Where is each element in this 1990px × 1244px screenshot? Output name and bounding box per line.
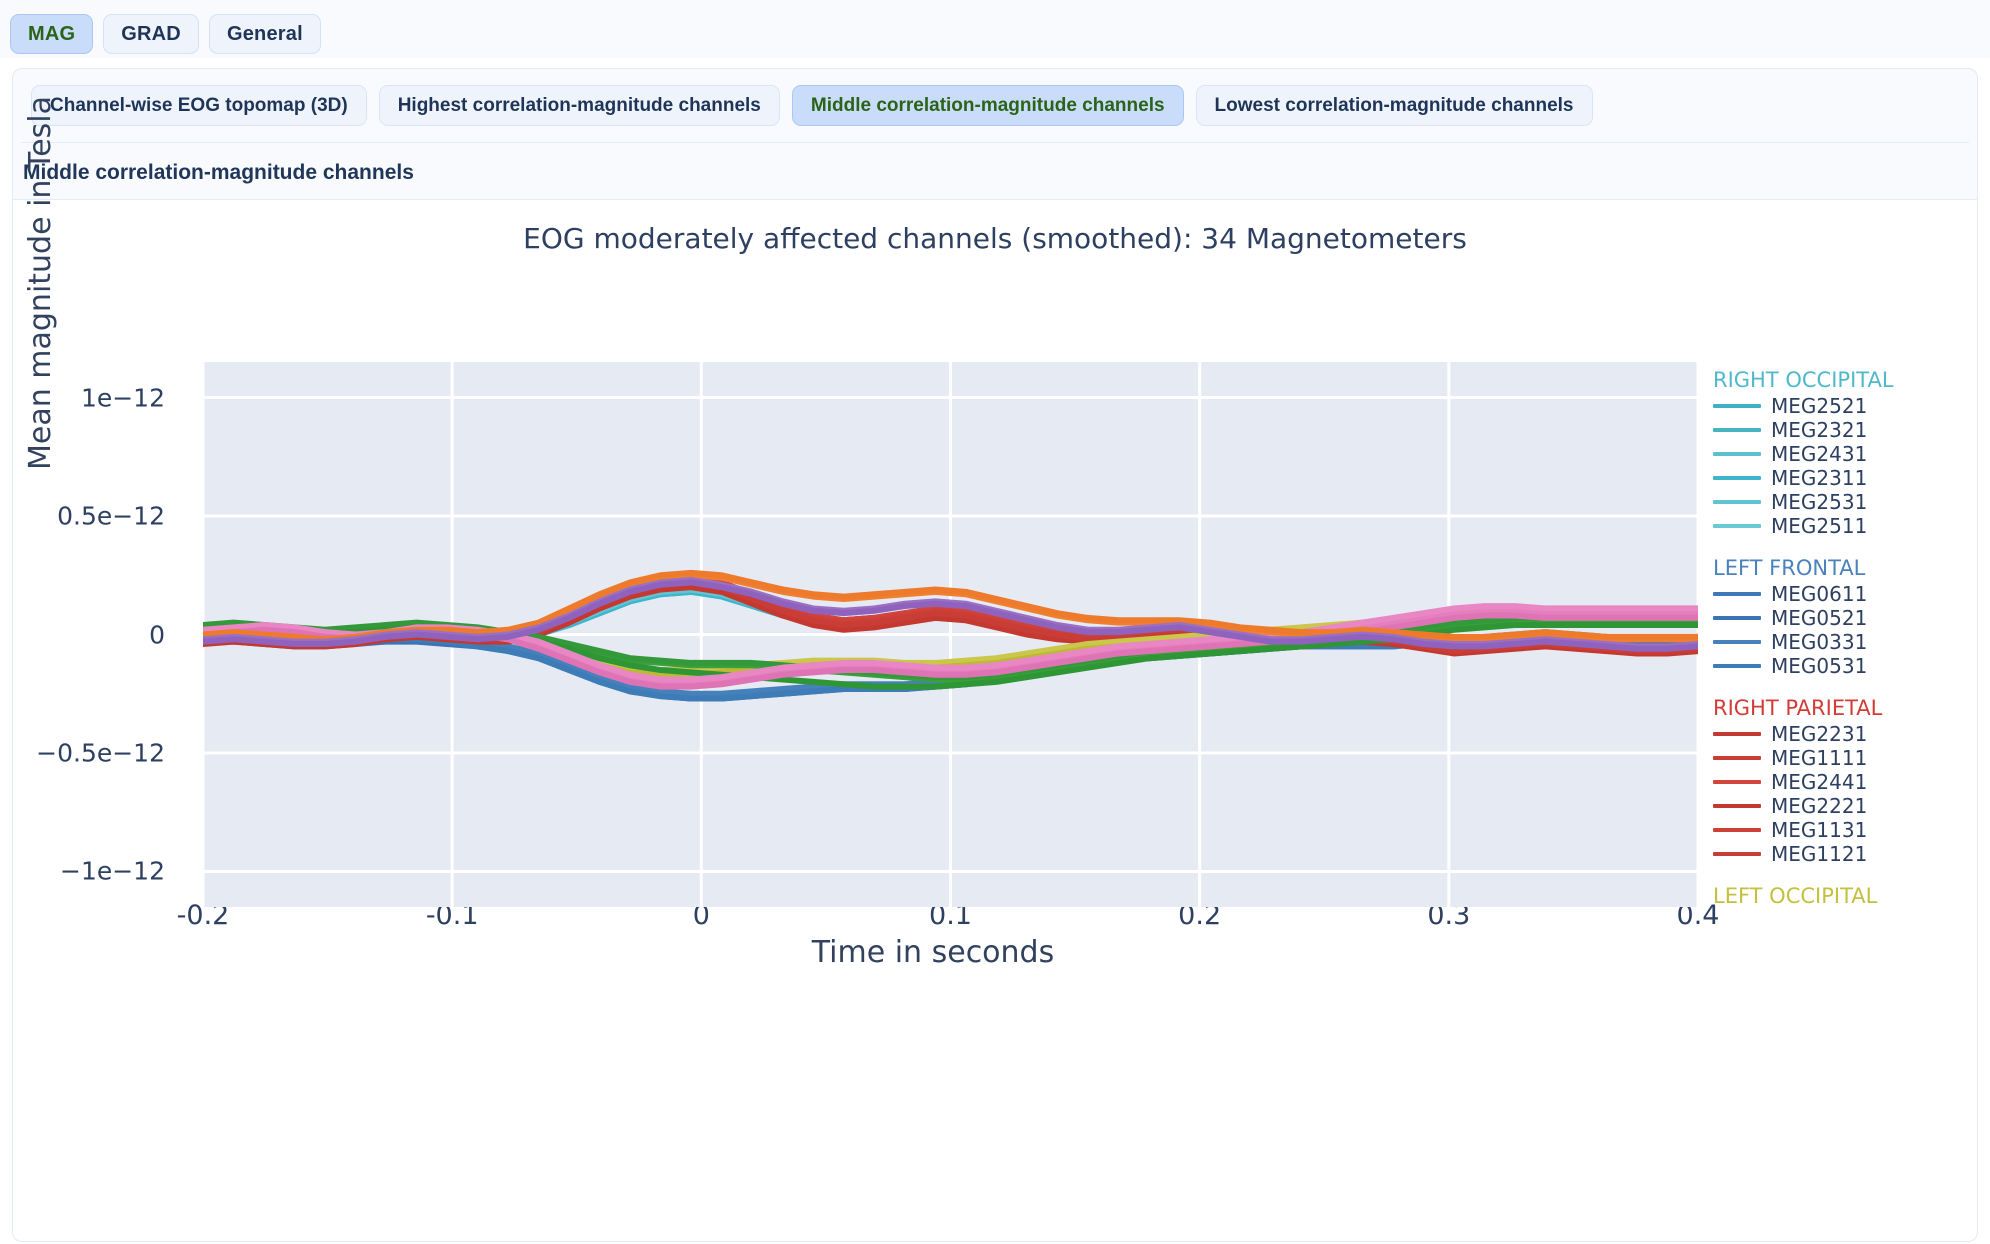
legend-swatch-icon (1713, 616, 1761, 620)
y-tick-label: 1e−12 (81, 383, 165, 412)
legend-channel-label: MEG2311 (1771, 466, 1867, 490)
legend-swatch-icon (1713, 664, 1761, 668)
y-tick-label: −0.5e−12 (36, 738, 165, 767)
legend-channel-label: MEG0521 (1771, 606, 1867, 630)
y-tick-label: 0.5e−12 (57, 502, 165, 531)
legend-item[interactable]: MEG2321 (1713, 418, 1978, 442)
legend-swatch-icon (1713, 852, 1761, 856)
legend-channel-label: MEG2511 (1771, 514, 1867, 538)
legend-swatch-icon (1713, 732, 1761, 736)
x-axis-label: Time in seconds (183, 935, 1683, 970)
legend-swatch-icon (1713, 524, 1761, 528)
legend-item[interactable]: MEG2511 (1713, 514, 1978, 538)
legend-swatch-icon (1713, 500, 1761, 504)
legend-swatch-icon (1713, 428, 1761, 432)
legend-channel-label: MEG2521 (1771, 394, 1867, 418)
legend-channel-label: MEG2441 (1771, 770, 1867, 794)
legend-swatch-icon (1713, 640, 1761, 644)
legend-channel-label: MEG1111 (1771, 746, 1867, 770)
legend-swatch-icon (1713, 476, 1761, 480)
legend-item[interactable]: MEG0531 (1713, 654, 1978, 678)
section-title: Middle correlation-magnitude channels (13, 143, 1977, 199)
legend-channel-label: MEG2321 (1771, 418, 1867, 442)
legend-item[interactable]: MEG1121 (1713, 842, 1978, 866)
legend-channel-label: MEG0611 (1771, 582, 1867, 606)
tab-highest-correlation-magnitude-channels[interactable]: Highest correlation-magnitude channels (379, 85, 780, 126)
legend-item[interactable]: MEG2441 (1713, 770, 1978, 794)
legend-item[interactable]: MEG0521 (1713, 606, 1978, 630)
tab-row: Channel-wise EOG topomap (3D) Highest co… (13, 69, 1977, 142)
legend-swatch-icon (1713, 756, 1761, 760)
legend-group-title: RIGHT OCCIPITAL (1713, 368, 1978, 392)
legend-swatch-icon (1713, 404, 1761, 408)
legend-group-title: LEFT OCCIPITAL (1713, 884, 1978, 908)
legend-item[interactable]: MEG2431 (1713, 442, 1978, 466)
tab-middle-correlation-magnitude-channels[interactable]: Middle correlation-magnitude channels (792, 85, 1184, 126)
chart-legend: RIGHT OCCIPITALMEG2521MEG2321MEG2431MEG2… (1713, 368, 1978, 926)
y-tick-label: −1e−12 (60, 857, 165, 886)
legend-group-title: LEFT FRONTAL (1713, 556, 1978, 580)
legend-item[interactable]: MEG1111 (1713, 746, 1978, 770)
legend-channel-label: MEG0331 (1771, 630, 1867, 654)
legend-item[interactable]: MEG2521 (1713, 394, 1978, 418)
legend-channel-label: MEG2431 (1771, 442, 1867, 466)
tab-card: Channel-wise EOG topomap (3D) Highest co… (12, 68, 1978, 1242)
y-axis-label: Mean magnitude in Tesla (23, 96, 58, 470)
chart-title: EOG moderately affected channels (smooth… (13, 222, 1977, 255)
legend-group: LEFT OCCIPITAL (1713, 884, 1978, 908)
legend-swatch-icon (1713, 780, 1761, 784)
sensor-pill-general[interactable]: General (209, 14, 321, 54)
sensor-type-pill-row: MAG GRAD General (0, 0, 1990, 58)
legend-item[interactable]: MEG1131 (1713, 818, 1978, 842)
legend-swatch-icon (1713, 804, 1761, 808)
legend-item[interactable]: MEG2531 (1713, 490, 1978, 514)
legend-group: RIGHT OCCIPITALMEG2521MEG2321MEG2431MEG2… (1713, 368, 1978, 538)
figure-panel: EOG moderately affected channels (smooth… (13, 199, 1977, 1242)
legend-item[interactable]: MEG2311 (1713, 466, 1978, 490)
sensor-pill-mag[interactable]: MAG (10, 14, 93, 54)
legend-group: RIGHT PARIETALMEG2231MEG1111MEG2441MEG22… (1713, 696, 1978, 866)
legend-channel-label: MEG1131 (1771, 818, 1867, 842)
legend-channel-label: MEG1121 (1771, 842, 1867, 866)
legend-channel-label: MEG2231 (1771, 722, 1867, 746)
legend-group-title: RIGHT PARIETAL (1713, 696, 1978, 720)
trace-canvas (203, 362, 1698, 907)
legend-item[interactable]: MEG0331 (1713, 630, 1978, 654)
app-root: MAG GRAD General Channel-wise EOG topoma… (0, 0, 1990, 1244)
legend-group: LEFT FRONTALMEG0611MEG0521MEG0331MEG0531 (1713, 556, 1978, 678)
legend-swatch-icon (1713, 828, 1761, 832)
tab-lowest-correlation-magnitude-channels[interactable]: Lowest correlation-magnitude channels (1196, 85, 1593, 126)
legend-swatch-icon (1713, 452, 1761, 456)
plot-area (203, 362, 1698, 907)
sensor-pill-grad[interactable]: GRAD (103, 14, 199, 54)
legend-item[interactable]: MEG2221 (1713, 794, 1978, 818)
legend-channel-label: MEG0531 (1771, 654, 1867, 678)
legend-item[interactable]: MEG2231 (1713, 722, 1978, 746)
legend-channel-label: MEG2531 (1771, 490, 1867, 514)
y-tick-label: 0 (149, 620, 165, 649)
legend-channel-label: MEG2221 (1771, 794, 1867, 818)
legend-swatch-icon (1713, 592, 1761, 596)
legend-item[interactable]: MEG0611 (1713, 582, 1978, 606)
tab-channel-wise-eog-topomap-3d[interactable]: Channel-wise EOG topomap (3D) (31, 85, 367, 126)
